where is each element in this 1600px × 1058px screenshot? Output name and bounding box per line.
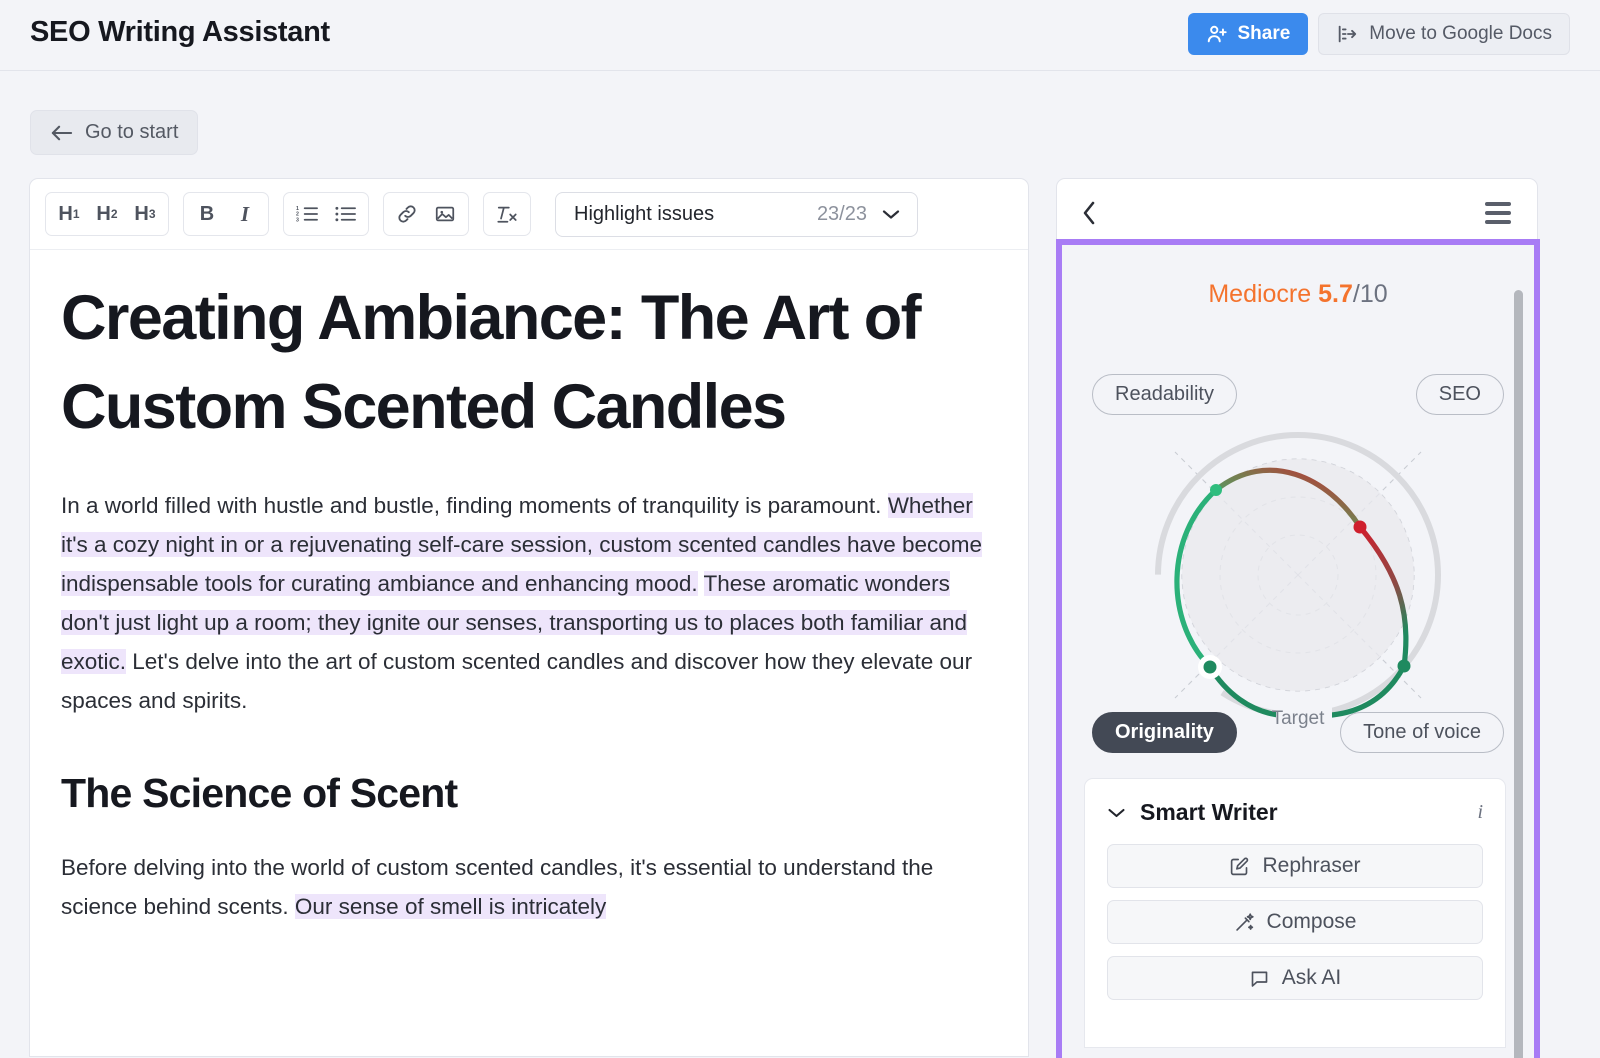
smart-writer-header[interactable]: Smart Writer i: [1107, 799, 1483, 826]
radar-point-tone-of-voice: [1398, 660, 1411, 673]
document-paragraph-2: Before delving into the world of custom …: [61, 849, 994, 927]
clear-formatting-icon[interactable]: [488, 196, 526, 232]
ask-ai-button[interactable]: Ask AI: [1107, 956, 1483, 1000]
assistant-highlight-region: Mediocre 5.7/10 Readability SEO: [1056, 239, 1540, 1058]
clear-format-tool-group: [483, 192, 531, 236]
document-heading-2: The Science of Scent: [61, 770, 994, 817]
user-plus-icon: [1206, 23, 1228, 45]
info-icon[interactable]: i: [1477, 801, 1483, 824]
radar-point-originality: [1204, 661, 1217, 674]
overall-score: Mediocre 5.7/10: [1062, 280, 1534, 309]
doc-text-plain: In a world filled with hustle and bustle…: [61, 493, 888, 518]
assistant-panel: Mediocre 5.7/10 Readability SEO: [1056, 178, 1538, 1057]
document-heading-1: Creating Ambiance: The Art of Custom Sce…: [61, 274, 994, 453]
bullet-list-icon[interactable]: [326, 196, 364, 232]
page-title: SEO Writing Assistant: [30, 16, 330, 49]
radar-point-readability: [1210, 484, 1222, 496]
score-denominator: /10: [1353, 280, 1388, 308]
score-value: 5.7: [1318, 280, 1353, 308]
text-style-tool-group: B I: [183, 192, 269, 236]
arrow-left-icon: [50, 124, 73, 142]
bold-button[interactable]: B: [188, 196, 226, 232]
svg-text:3: 3: [296, 217, 299, 223]
editor-toolbar: H1 H2 H3 B I 1 2 3: [30, 179, 1028, 250]
edit-square-icon: [1229, 856, 1250, 877]
assistant-panel-scrollbar[interactable]: [1514, 290, 1523, 1058]
move-to-google-docs-button[interactable]: Move to Google Docs: [1318, 13, 1570, 55]
score-word: Mediocre: [1208, 280, 1311, 308]
go-to-start-button[interactable]: Go to start: [30, 110, 198, 155]
heading-3-button[interactable]: H3: [126, 196, 164, 232]
share-button-label: Share: [1237, 23, 1290, 45]
smart-writer-card: Smart Writer i Rephraser: [1084, 778, 1506, 1048]
radar-chart: Target: [1062, 415, 1534, 745]
chevron-left-icon[interactable]: [1081, 200, 1097, 226]
doc-text-plain: Let's delve into the art of custom scent…: [61, 649, 972, 713]
image-icon[interactable]: [426, 196, 464, 232]
document-paragraph-1: In a world filled with hustle and bustle…: [61, 487, 994, 721]
pill-readability[interactable]: Readability: [1092, 374, 1237, 415]
chevron-down-icon[interactable]: [1107, 807, 1126, 819]
highlight-issues-count: 23/23: [817, 203, 867, 226]
doc-text-highlight[interactable]: Our sense of smell is intricately: [295, 894, 606, 919]
heading-1-button[interactable]: H1: [50, 196, 88, 232]
heading-2-button[interactable]: H2: [88, 196, 126, 232]
chat-bubble-icon: [1249, 968, 1270, 989]
ordered-list-icon[interactable]: 1 2 3: [288, 196, 326, 232]
assistant-panel-topbar: [1057, 179, 1537, 247]
doc-text-plain: [698, 571, 704, 596]
rephraser-button[interactable]: Rephraser: [1107, 844, 1483, 888]
italic-button[interactable]: I: [226, 196, 264, 232]
highlight-issues-select[interactable]: Highlight issues 23/23: [555, 192, 918, 237]
compose-button[interactable]: Compose: [1107, 900, 1483, 944]
smart-writer-title: Smart Writer: [1140, 799, 1463, 826]
metric-pill-row-bottom: Originality Tone of voice: [1062, 712, 1534, 753]
insert-tool-group: [383, 192, 469, 236]
go-to-start-label: Go to start: [85, 121, 178, 144]
hamburger-menu-icon[interactable]: [1485, 202, 1511, 224]
pill-tone-of-voice[interactable]: Tone of voice: [1340, 712, 1504, 753]
compose-label: Compose: [1267, 910, 1357, 934]
link-icon[interactable]: [388, 196, 426, 232]
document-body[interactable]: Creating Ambiance: The Art of Custom Sce…: [30, 250, 1028, 1057]
magic-wand-icon: [1234, 912, 1255, 933]
editor-card: H1 H2 H3 B I 1 2 3: [29, 178, 1029, 1057]
move-to-google-docs-label: Move to Google Docs: [1369, 23, 1552, 45]
rephraser-label: Rephraser: [1262, 854, 1360, 878]
heading-tool-group: H1 H2 H3: [45, 192, 169, 236]
pill-seo[interactable]: SEO: [1416, 374, 1504, 415]
app-header: SEO Writing Assistant Share Move to Goog…: [0, 0, 1600, 71]
share-button[interactable]: Share: [1188, 13, 1308, 55]
header-actions: Share Move to Google Docs: [1188, 13, 1570, 55]
ask-ai-label: Ask AI: [1282, 966, 1342, 990]
radar-point-seo: [1354, 521, 1367, 534]
pill-originality[interactable]: Originality: [1092, 712, 1237, 753]
move-right-icon: [1336, 23, 1358, 45]
metric-pill-row-top: Readability SEO: [1062, 374, 1534, 415]
list-tool-group: 1 2 3: [283, 192, 369, 236]
chevron-down-icon: [881, 207, 901, 221]
highlight-issues-label: Highlight issues: [574, 203, 714, 226]
